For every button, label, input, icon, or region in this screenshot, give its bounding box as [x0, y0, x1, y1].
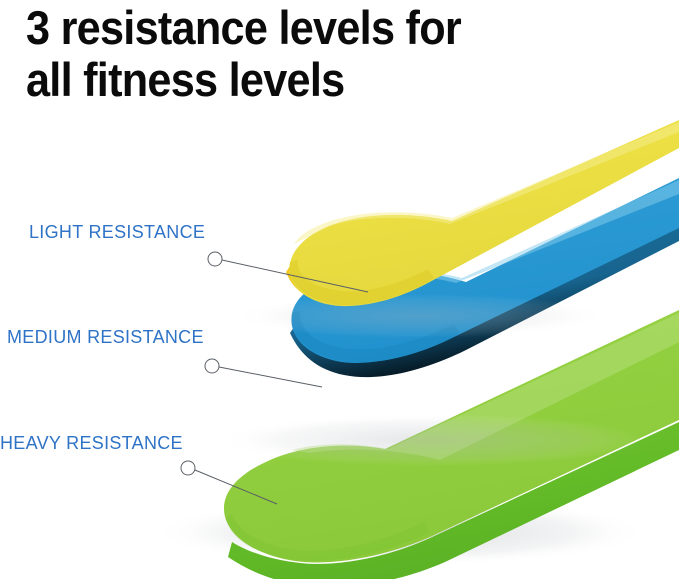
resistance-bands-photo — [0, 120, 679, 579]
callout-label-medium: MEDIUM RESISTANCE — [7, 327, 204, 348]
page-title: 3 resistance levels for all fitness leve… — [26, 2, 578, 106]
callout-label-heavy: HEAVY RESISTANCE — [0, 433, 183, 454]
callout-label-light: LIGHT RESISTANCE — [29, 222, 205, 243]
product-feature-image: 3 resistance levels for all fitness leve… — [0, 0, 679, 579]
